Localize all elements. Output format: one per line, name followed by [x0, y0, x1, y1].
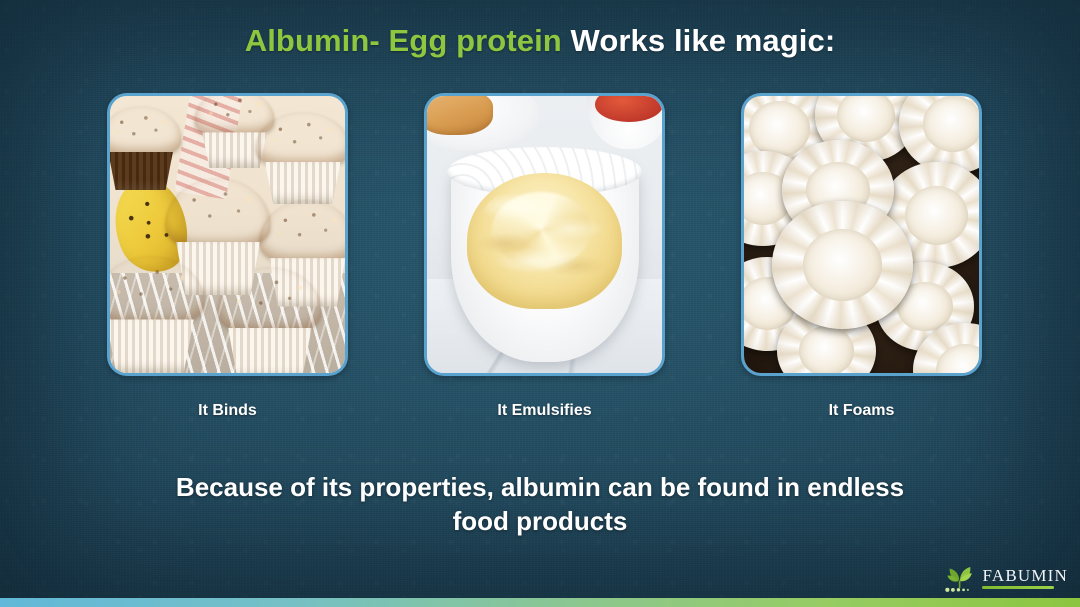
brand-logo[interactable]: FABUMIN: [944, 563, 1068, 593]
image-card-foams[interactable]: [741, 93, 982, 376]
muffins-photo: [110, 96, 345, 373]
caption-row: It Binds It Emulsifies It Foams: [0, 402, 1080, 430]
leaf-icon: [944, 563, 976, 593]
title-rest: Works like magic:: [562, 23, 835, 58]
summary-statement: Because of its properties, albumin can b…: [90, 470, 990, 539]
mayonnaise-photo: [427, 96, 662, 373]
logo-underbar: [982, 586, 1054, 589]
page-title: Albumin- Egg protein Works like magic:: [0, 22, 1080, 61]
image-card-row: [0, 93, 1080, 377]
title-highlight: Albumin- Egg protein: [245, 23, 562, 58]
image-card-emulsifies[interactable]: [424, 93, 665, 376]
meringues-photo: [744, 96, 979, 373]
caption-emulsifies: It Emulsifies: [424, 402, 665, 420]
caption-binds: It Binds: [107, 402, 348, 420]
summary-line-1: Because of its properties, albumin can b…: [176, 472, 904, 502]
image-card-binds[interactable]: [107, 93, 348, 376]
slide-canvas: Albumin- Egg protein Works like magic:: [0, 0, 1080, 607]
summary-line-2: food products: [453, 506, 628, 536]
caption-foams: It Foams: [741, 402, 982, 420]
logo-wordmark-wrap: FABUMIN: [982, 567, 1068, 589]
logo-wordmark: FABUMIN: [982, 567, 1068, 584]
bottom-accent-bar: [0, 598, 1080, 607]
